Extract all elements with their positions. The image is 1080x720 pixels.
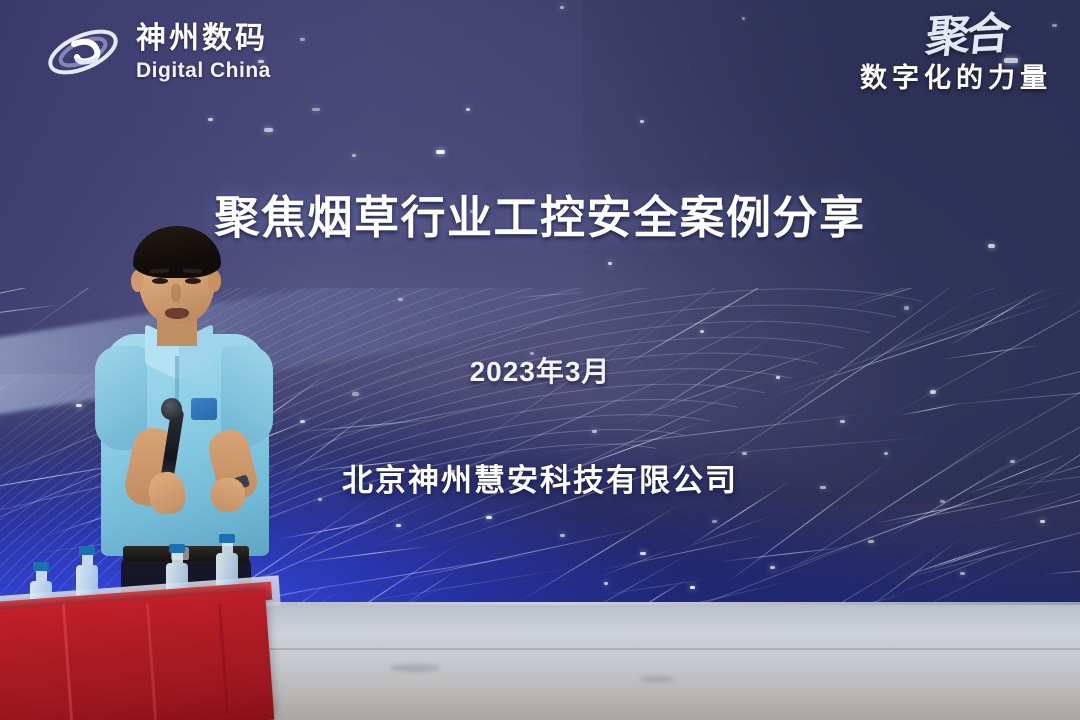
shirt-chest-logo-icon — [191, 398, 217, 420]
red-table-cloth — [0, 590, 274, 720]
digital-china-wordmark: 神州数码 Digital China — [136, 24, 271, 81]
bottle-cap — [219, 534, 235, 543]
bottle-cap — [79, 546, 95, 555]
conference-stage-photo: 聚焦烟草行业工控安全案例分享 2023年3月 北京神州慧安科技有限公司 神州数码… — [0, 0, 1080, 720]
bottle-neck — [82, 555, 93, 565]
event-logo: 聚合 数字化的力量 — [860, 18, 1052, 95]
bottle-cap — [169, 544, 185, 553]
presenter-shirt-placket — [175, 356, 179, 402]
brand-name-cn: 神州数码 — [136, 24, 271, 54]
presenter-mouth — [165, 308, 189, 319]
floor-scuff-mark — [390, 664, 440, 672]
bottle-neck — [36, 571, 47, 581]
brand-name-en: Digital China — [136, 60, 271, 81]
bottle-neck — [172, 553, 183, 563]
event-calligraphy: 聚合 — [857, 14, 1008, 61]
presenter-eye-left — [152, 278, 168, 284]
presenter-nose — [171, 284, 181, 302]
presenter-eye-right — [185, 278, 201, 284]
floor-scuff-mark — [640, 676, 674, 682]
bottle-cap — [33, 562, 49, 571]
presenter-hand-right — [211, 478, 245, 512]
presenter-hair — [133, 226, 221, 278]
bottle-neck — [222, 543, 233, 553]
digital-china-logo: 神州数码 Digital China — [44, 20, 271, 84]
digital-china-swirl-icon — [44, 20, 122, 84]
